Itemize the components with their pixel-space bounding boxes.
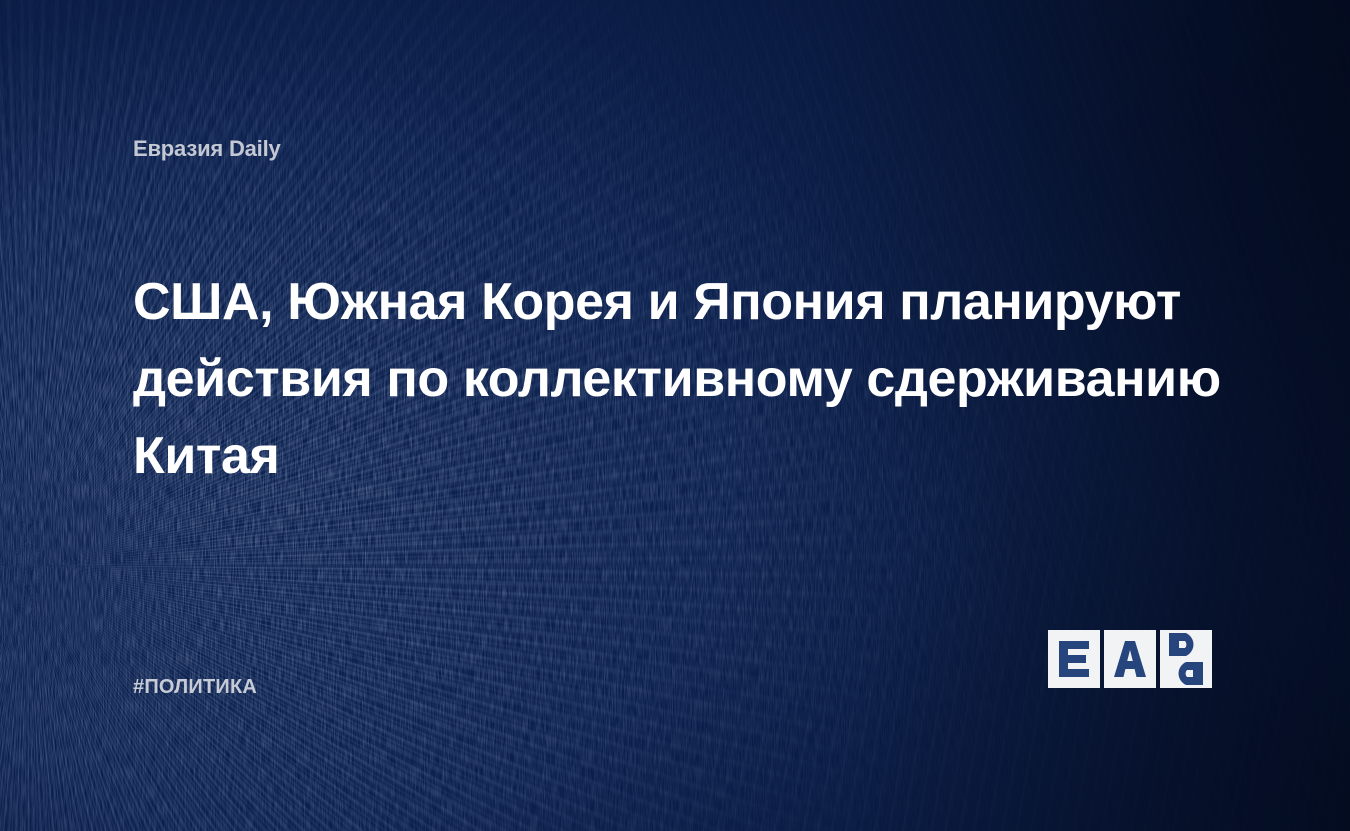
letter-e-icon bbox=[1057, 639, 1091, 679]
logo-tile-e bbox=[1048, 630, 1100, 688]
category-tag: #ПОЛИТИКА bbox=[133, 676, 257, 699]
letter-d-icon bbox=[1160, 630, 1212, 688]
news-share-card: Евразия Daily США, Южная Корея и Япония … bbox=[0, 0, 1350, 831]
card-content: Евразия Daily США, Южная Корея и Япония … bbox=[0, 0, 1350, 831]
logo-tile-a bbox=[1104, 630, 1156, 688]
logo-tile-d bbox=[1160, 630, 1212, 688]
article-headline: США, Южная Корея и Япония планируют дейс… bbox=[133, 264, 1243, 495]
site-name: Евразия Daily bbox=[133, 136, 281, 162]
eadaily-logo bbox=[1048, 630, 1212, 688]
letter-a-icon bbox=[1112, 639, 1148, 679]
